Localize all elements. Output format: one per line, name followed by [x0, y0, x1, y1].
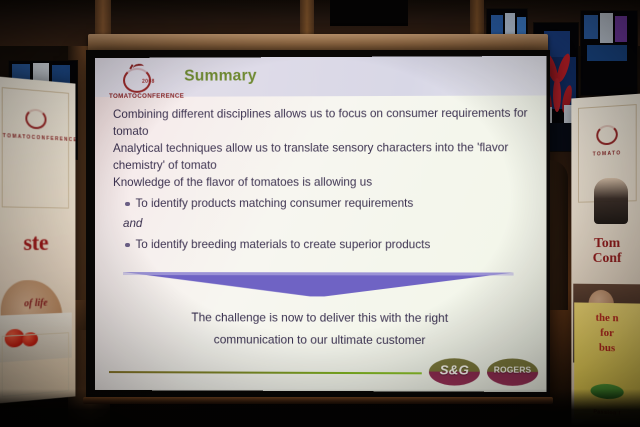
triangle-divider [123, 272, 514, 297]
slide-bullet-2: To identify breeding materials to create… [125, 237, 534, 254]
logo-wordmark: TOMATOCONFERENCE [109, 93, 184, 100]
slide-paragraph-2: Analytical techniques allow us to transl… [113, 140, 534, 174]
banner-right-yellow-line-3: bus [574, 340, 640, 357]
sponsor-logo-rogers-label: ROGERS [494, 366, 532, 375]
slide-closing-line-1: The challenge is now to deliver this wit… [129, 306, 512, 329]
slide-title: Summary [184, 67, 257, 85]
banner-right-headline-line-1: Tom [571, 236, 640, 252]
banner-right-headline-line-2: Conf [571, 251, 640, 266]
stained-glass-window-top-right [580, 10, 638, 96]
presentation-slide: 2008 TOMATOCONFERENCE Summary Combining … [95, 56, 546, 392]
slide-bullet-2-text: To identify breeding materials to create… [136, 237, 431, 254]
speaker-silhouette [594, 178, 628, 224]
banner-left-subline: of life [0, 297, 75, 311]
banner-left-logo-box: TOMATOCONFERENCE [2, 87, 69, 209]
conference-room-scene: 2008 TOMATOCONFERENCE Summary Combining … [0, 0, 640, 427]
conference-logo: 2008 TOMATOCONFERENCE [109, 62, 185, 104]
banner-right: TOMATO Tom Conf the n for bus Passion f [571, 93, 640, 427]
slide-connector-word: and [123, 216, 534, 233]
slide-bullet-1-text: To identify products matching consumer r… [136, 195, 414, 212]
banner-left-lower-box [2, 332, 69, 397]
banner-left-headline: ste [0, 230, 75, 257]
sponsor-logo-sg-label: S&G [440, 362, 469, 377]
slide-bullet-1: To identify products matching consumer r… [125, 195, 534, 212]
slide-closing: The challenge is now to deliver this wit… [129, 306, 512, 351]
slide-paragraph-1: Combining different disciplines allows u… [113, 106, 534, 140]
bullet-dot-icon [125, 201, 130, 206]
ceiling-beam-3 [470, 0, 484, 34]
tomato-outline-icon [596, 124, 618, 145]
banner-right-headline: Tom Conf [571, 236, 640, 266]
slide-body: Combining different disciplines allows u… [113, 106, 534, 254]
sponsor-logo-sg: S&G [429, 358, 480, 385]
foreground-shadow [0, 389, 640, 427]
sponsor-logos: S&G ROGERS [429, 358, 538, 386]
projector-screen: 2008 TOMATOCONFERENCE Summary Combining … [86, 50, 550, 398]
banner-left: TOMATOCONFERENCE ste of life [0, 76, 75, 404]
bullet-dot-icon [125, 243, 130, 248]
slide-bottom-rule [109, 371, 422, 374]
banner-left-wordmark: TOMATOCONFERENCE [3, 133, 68, 143]
sponsor-logo-rogers: ROGERS [487, 358, 538, 386]
tomato-outline-icon [25, 108, 46, 129]
ceiling-panel [330, 0, 408, 26]
slide-closing-line-2: communication to our ultimate customer [129, 328, 512, 351]
slide-paragraph-3: Knowledge of the flavor of tomatoes is a… [113, 174, 534, 191]
banner-right-yellow-text: the n for bus [574, 310, 640, 357]
logo-year: 2008 [142, 79, 155, 85]
banner-right-wordmark: TOMATO [579, 150, 636, 159]
